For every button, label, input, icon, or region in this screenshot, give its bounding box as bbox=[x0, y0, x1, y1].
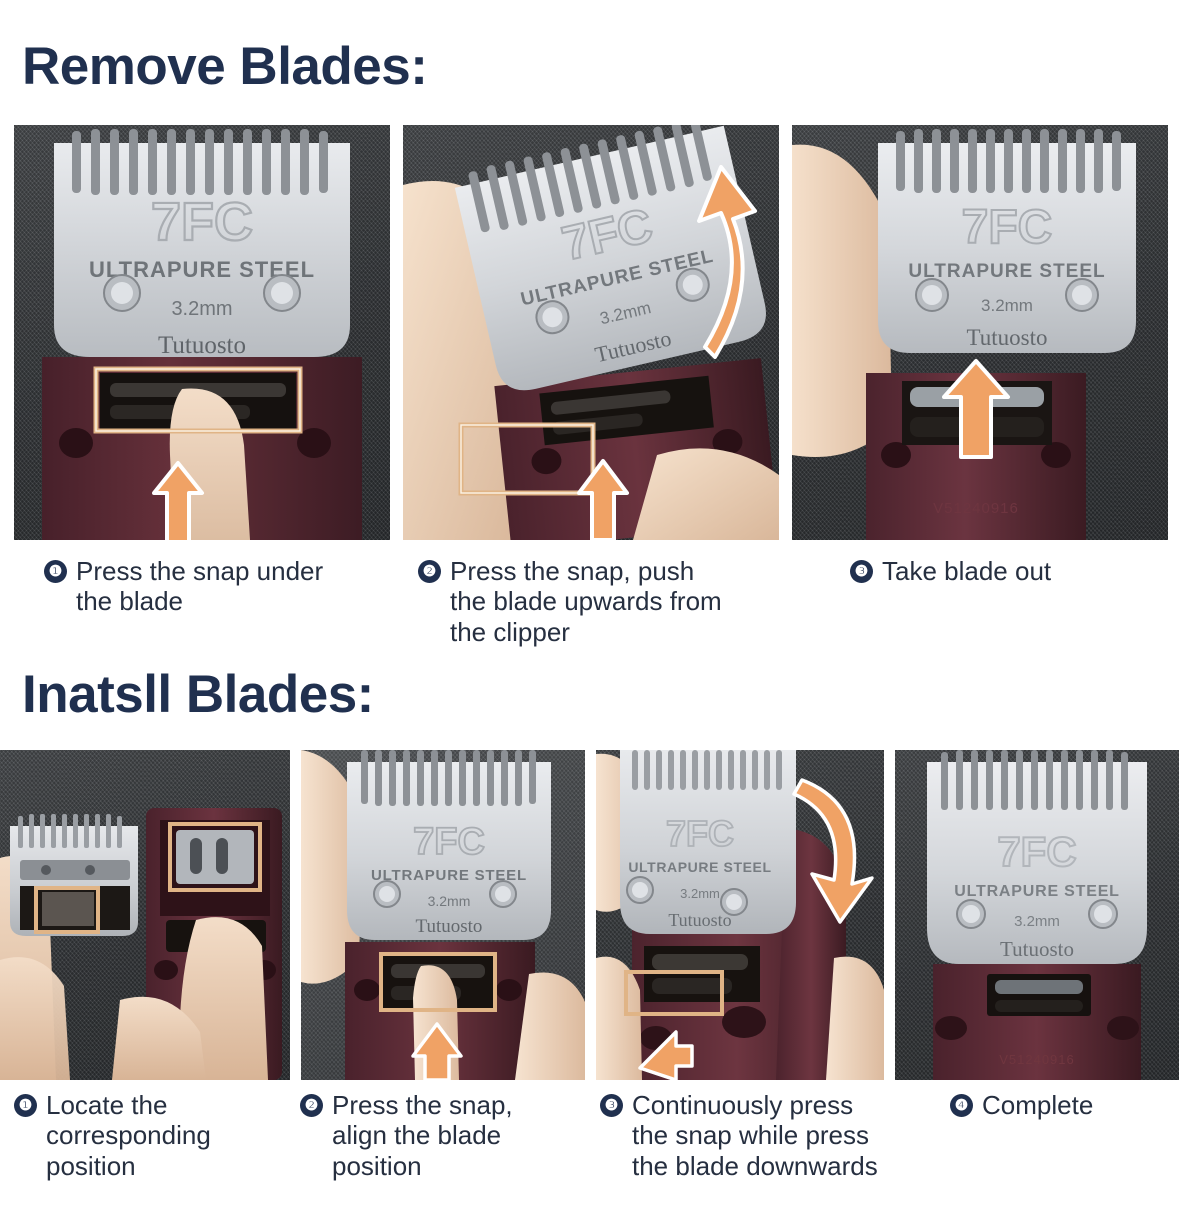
svg-text:3.2mm: 3.2mm bbox=[1014, 913, 1060, 930]
step-number-badge: ❶ bbox=[44, 560, 67, 583]
step-number-badge: ❶ bbox=[14, 1094, 37, 1117]
step-text: Locate the corresponding position bbox=[46, 1090, 211, 1181]
step-text: Press the snap, push the blade upwards f… bbox=[450, 556, 722, 647]
step-text: Continuously press the snap while press … bbox=[632, 1090, 878, 1181]
clipper-body-code: V51240916 bbox=[999, 1052, 1075, 1067]
svg-text:7FC: 7FC bbox=[666, 813, 734, 854]
step-text: Press the snap under the blade bbox=[76, 556, 323, 617]
photo-locate-corresponding-position bbox=[0, 750, 290, 1080]
caption-step-3: ❸ Continuously press the snap while pres… bbox=[600, 1090, 900, 1181]
caption-step-2: ❷ Press the snap, push the blade upwards… bbox=[418, 556, 768, 647]
svg-text:7FC: 7FC bbox=[413, 821, 485, 863]
svg-text:7FC: 7FC bbox=[997, 828, 1076, 875]
photo-row-remove-blades: 7FC ULTRAPURE STEEL 3.2mm Tutuosto bbox=[0, 125, 1179, 540]
svg-text:ULTRAPURE STEEL: ULTRAPURE STEEL bbox=[628, 859, 771, 875]
caption-step-1: ❶ Locate the corresponding position bbox=[14, 1090, 284, 1181]
svg-text:ULTRAPURE STEEL: ULTRAPURE STEEL bbox=[908, 261, 1105, 282]
svg-text:7FC: 7FC bbox=[962, 201, 1053, 254]
photo-row-install-blades: 7FC ULTRAPURE STEEL 3.2mm Tutuosto bbox=[0, 750, 1179, 1080]
step-text: Complete bbox=[982, 1090, 1093, 1120]
svg-text:7FC: 7FC bbox=[151, 192, 253, 252]
photo-take-blade-out: V51240916 7FC ULTRAPURE STEEL 3.2mm Tutu… bbox=[792, 125, 1168, 540]
caption-step-1: ❶ Press the snap under the blade bbox=[44, 556, 384, 617]
svg-text:Tutuosto: Tutuosto bbox=[1000, 937, 1074, 961]
step-number-badge: ❹ bbox=[950, 1094, 973, 1117]
step-number-badge: ❷ bbox=[418, 560, 441, 583]
photo-press-snap-under-blade: 7FC ULTRAPURE STEEL 3.2mm Tutuosto bbox=[14, 125, 390, 540]
svg-text:3.2mm: 3.2mm bbox=[428, 893, 471, 909]
svg-text:Tutuosto: Tutuosto bbox=[158, 332, 246, 359]
step-number-badge: ❸ bbox=[850, 560, 873, 583]
caption-step-3: ❸ Take blade out bbox=[850, 556, 1170, 586]
photo-align-blade-position: 7FC ULTRAPURE STEEL 3.2mm Tutuosto bbox=[301, 750, 585, 1080]
svg-text:3.2mm: 3.2mm bbox=[171, 298, 232, 320]
svg-text:ULTRAPURE STEEL: ULTRAPURE STEEL bbox=[954, 883, 1119, 900]
svg-text:Tutuosto: Tutuosto bbox=[967, 325, 1048, 350]
clipper-body-code: V51240916 bbox=[933, 500, 1019, 517]
svg-text:3.2mm: 3.2mm bbox=[981, 296, 1033, 315]
photo-push-blade-upwards: 7FC ULTRAPURE STEEL 3.2mm Tutuosto bbox=[403, 125, 779, 540]
svg-text:Tutuosto: Tutuosto bbox=[668, 910, 731, 930]
svg-text:Tutuosto: Tutuosto bbox=[416, 916, 483, 937]
step-text: Take blade out bbox=[882, 556, 1051, 586]
step-text: Press the snap, align the blade position bbox=[332, 1090, 513, 1181]
step-number-badge: ❷ bbox=[300, 1094, 323, 1117]
caption-step-4: ❹ Complete bbox=[950, 1090, 1170, 1120]
step-number-badge: ❸ bbox=[600, 1094, 623, 1117]
section-heading-install-blades: Inatsll Blades: bbox=[0, 668, 374, 721]
photo-complete-assembly: V51240916 7FC ULTRAPURE STEEL 3.2mm Tutu… bbox=[895, 750, 1179, 1080]
caption-step-2: ❷ Press the snap, align the blade positi… bbox=[300, 1090, 570, 1181]
section-heading-remove-blades: Remove Blades: bbox=[0, 40, 427, 93]
svg-text:3.2mm: 3.2mm bbox=[680, 886, 720, 901]
photo-press-blade-downwards: 7FC ULTRAPURE STEEL 3.2mm Tutuosto bbox=[596, 750, 884, 1080]
